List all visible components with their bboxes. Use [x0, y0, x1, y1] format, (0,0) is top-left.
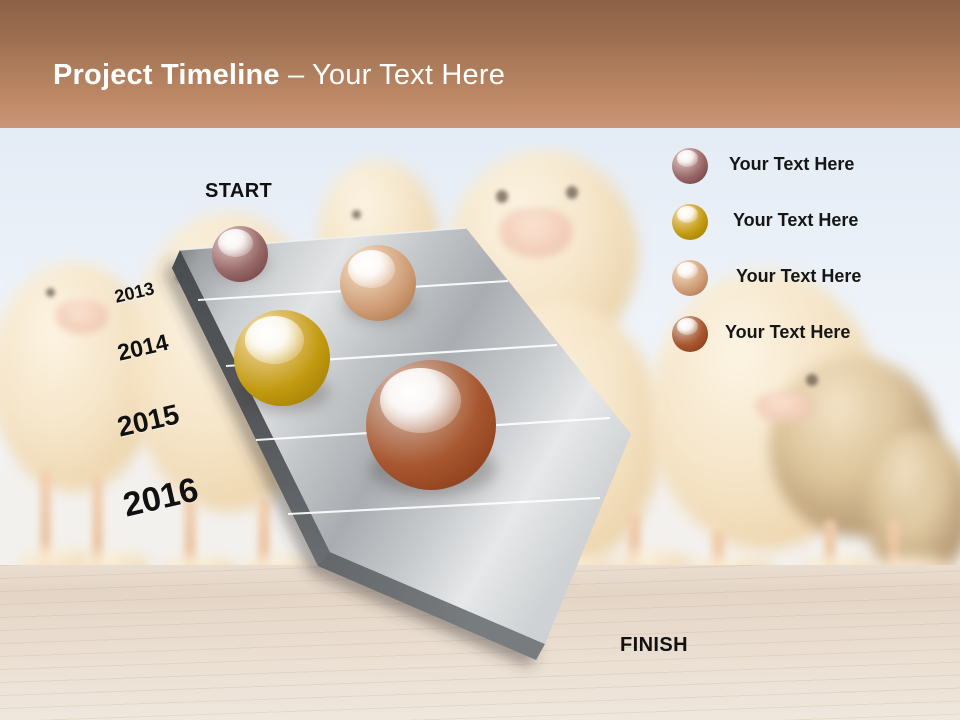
legend-item-3[interactable]: Your Text Here — [672, 258, 952, 314]
legend-bullet-icon — [672, 204, 708, 240]
legend-item-2[interactable]: Your Text Here — [672, 202, 952, 258]
legend-label-4: Your Text Here — [725, 322, 850, 343]
finish-label: FINISH — [620, 634, 688, 657]
milestone-sphere-2[interactable] — [340, 245, 416, 321]
milestone-sphere-3[interactable] — [234, 310, 330, 406]
legend-bullet-icon — [672, 316, 708, 352]
legend-label-2: Your Text Here — [733, 210, 858, 231]
legend-item-4[interactable]: Your Text Here — [672, 314, 952, 370]
page-title-light: – Your Text Here — [288, 59, 505, 91]
legend-label-3: Your Text Here — [736, 266, 861, 287]
milestone-sphere-1[interactable] — [212, 226, 268, 282]
legend-item-1[interactable]: Your Text Here — [672, 146, 952, 202]
legend: Your Text Here Your Text Here Your Text … — [672, 146, 952, 370]
page-title-bold: Project Timeline — [53, 59, 280, 91]
milestone-sphere-4[interactable] — [366, 360, 496, 490]
start-label: START — [205, 180, 272, 203]
slide: START FINISH 2013 2014 2015 2016 Project… — [0, 0, 960, 720]
legend-bullet-icon — [672, 148, 708, 184]
page-title: Project Timeline – Your Text Here — [53, 61, 505, 90]
legend-label-1: Your Text Here — [729, 154, 854, 175]
legend-bullet-icon — [672, 260, 708, 296]
